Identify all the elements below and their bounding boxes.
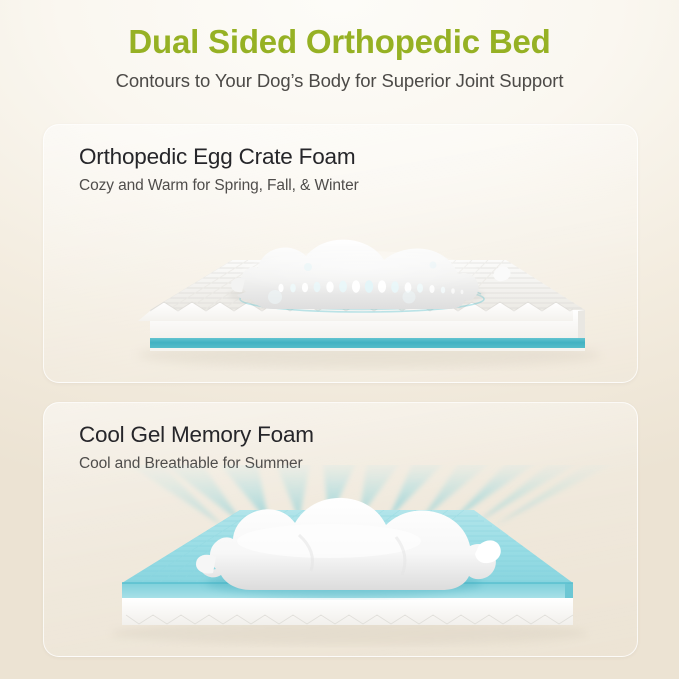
- infographic-canvas: Dual Sided Orthopedic Bed Contours to Yo…: [0, 0, 679, 679]
- feature-card-orthopedic-egg-crate-foam: Orthopedic Egg Crate Foam Cozy and Warm …: [43, 124, 638, 383]
- page-subtitle: Contours to Your Dog’s Body for Superior…: [0, 70, 679, 91]
- page-title: Dual Sided Orthopedic Bed: [0, 24, 679, 60]
- header: Dual Sided Orthopedic Bed Contours to Yo…: [0, 24, 679, 91]
- joint-highlight-hip: [268, 290, 282, 304]
- foam-right-face: [578, 310, 585, 340]
- feature-card-cool-gel-memory-foam: Cool Gel Memory Foam Cool and Breathable…: [43, 402, 638, 657]
- foam-bottom-lip: [150, 348, 585, 351]
- card-header: Orthopedic Egg Crate Foam Cozy and Warm …: [79, 145, 359, 194]
- cool-gel-foam-svg: [44, 465, 637, 657]
- illustration-cool-gel-memory-foam-with-dog: [44, 465, 637, 657]
- card-title: Orthopedic Egg Crate Foam: [79, 145, 359, 170]
- joint-highlight-neck: [430, 262, 437, 269]
- joint-highlight-shoulder: [403, 291, 416, 304]
- teal-base-strip: [150, 338, 585, 348]
- illustration-egg-crate-foam-with-dog-imprint: [44, 207, 637, 382]
- card-title: Cool Gel Memory Foam: [79, 423, 314, 448]
- card-subtitle: Cozy and Warm for Spring, Fall, & Winter: [79, 177, 359, 194]
- dog-silhouette: [228, 240, 511, 309]
- egg-crate-foam-svg: [44, 207, 637, 382]
- dog-highlight: [237, 524, 421, 558]
- joint-highlight-back: [304, 263, 312, 271]
- gel-right-face: [565, 583, 573, 600]
